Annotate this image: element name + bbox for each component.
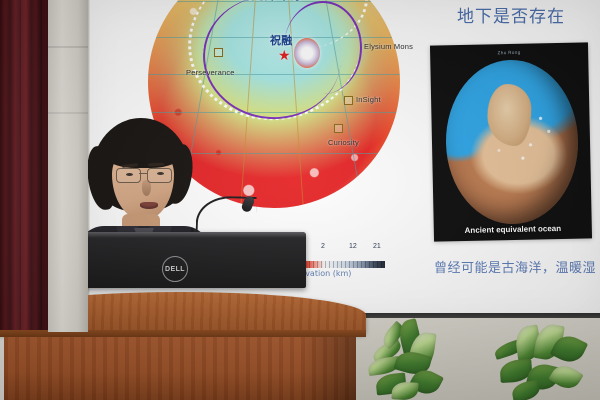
ocean-image-caption: Ancient equivalent ocean: [434, 223, 592, 235]
elysium-mons-volcano: [294, 38, 320, 68]
ancient-ocean-image: Zhu Rong Ancient equivalent ocean: [430, 42, 592, 241]
label-curiosity: Curiosity: [328, 138, 359, 147]
colorbar-tick-2: 2: [321, 243, 325, 250]
label-utopia-planitia-zh: 乌托邦平原: [238, 0, 304, 3]
presentation-photo: Viking-2 乌托邦平原 祝融 ★ Perseverance Elysium…: [0, 0, 600, 400]
colorbar-tick-21: 21: [373, 243, 381, 250]
speaker-nose: [142, 180, 151, 196]
site-box-insight: [344, 96, 353, 105]
speaker-mouth: [140, 202, 158, 209]
colorbar-tick-labels: 0 2 12 21: [293, 252, 385, 261]
colorbar-tick-marks: [293, 261, 385, 268]
label-zhurong-zh: 祝融: [270, 32, 292, 48]
dell-logo: DELL: [162, 256, 188, 282]
label-elysium-mons: Elysium Mons: [364, 42, 413, 51]
eyeglass-lens-left: [116, 168, 141, 183]
label-insight: InSight: [356, 95, 381, 104]
curtain-shading: [0, 0, 48, 330]
eyeglass-lens-right: [147, 168, 172, 183]
plant-left: [366, 318, 462, 400]
slide-title-right: 地下是否存在: [457, 2, 565, 27]
ocean-image-topmark: Zhu Rong: [430, 48, 588, 56]
site-box-perseverance: [214, 48, 223, 57]
colorbar-gradient: [293, 261, 385, 268]
ocean-crater-dots: [444, 59, 579, 226]
speaker-bangs: [104, 134, 182, 168]
wall-pillar: [48, 0, 88, 332]
plant-right: [492, 320, 596, 400]
pillar-seam-upper: [48, 46, 88, 48]
elevation-colorbar: 0 2 12 21 Elevation (km): [293, 252, 385, 278]
site-box-curiosity: [334, 124, 343, 133]
colorbar-title: Elevation (km): [293, 269, 385, 278]
slide-caption-right: 曾经可能是古海洋，温暖湿: [434, 257, 596, 276]
zhurong-star-marker: ★: [278, 48, 291, 62]
colorbar-tick-12: 12: [349, 243, 357, 250]
pillar-seam-lower: [48, 112, 88, 114]
podium-shadow: [300, 337, 356, 400]
label-perseverance: Perseverance: [186, 68, 235, 77]
eyeglass-bridge: [139, 173, 147, 174]
